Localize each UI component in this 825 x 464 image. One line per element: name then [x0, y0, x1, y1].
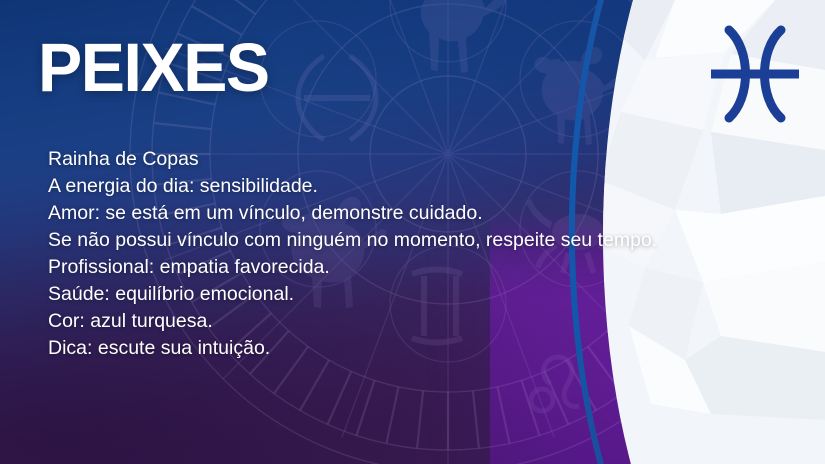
horoscope-line: Cor: azul turquesa.: [48, 308, 788, 335]
page-title: PEIXES: [38, 33, 269, 102]
horoscope-line: Saúde: equilíbrio emocional.: [48, 281, 788, 308]
horoscope-text: Rainha de Copas A energia do dia: sensib…: [48, 146, 788, 362]
horoscope-line: Amor: se está em um vínculo, demonstre c…: [48, 200, 788, 227]
horoscope-line: Rainha de Copas: [48, 146, 788, 173]
horoscope-card: PEIXES Rainha de Copas A energia do dia:…: [0, 0, 825, 464]
horoscope-line: Se não possui vínculo com ninguém no mom…: [48, 227, 788, 254]
pisces-fish-figure: [298, 56, 376, 140]
horoscope-line: Dica: escute sua intuição.: [48, 335, 788, 362]
horoscope-line: Profissional: empatia favorecida.: [48, 254, 788, 281]
pisces-glyph-icon: [703, 22, 807, 126]
horoscope-line: A energia do dia: sensibilidade.: [48, 173, 788, 200]
